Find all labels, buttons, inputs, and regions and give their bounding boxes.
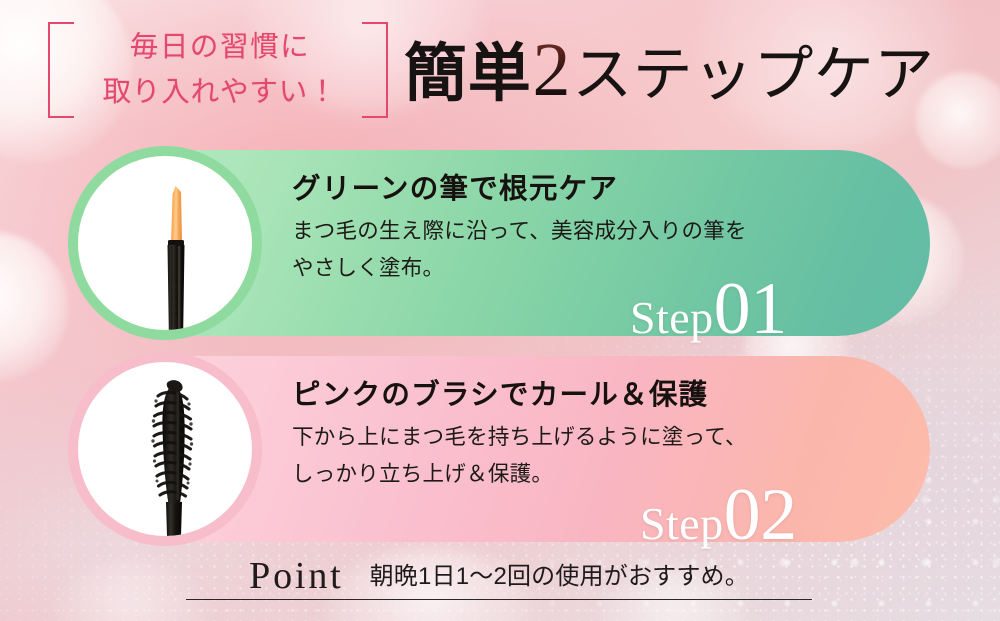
banner-header: 毎日の習慣に 取り入れやすい！ 簡単2ステップケア: [0, 0, 1000, 142]
step-02-number: 02: [724, 474, 797, 556]
step-02-icon-circle: [78, 362, 252, 536]
step-01-body-line-1: まつ毛の生え際に沿って、美容成分入りの筆を: [292, 215, 894, 247]
promo-banner: 毎日の習慣に 取り入れやすい！ 簡単2ステップケア グリーンの筆で根元ケア まつ…: [0, 0, 1000, 621]
step-01-icon-circle: [78, 156, 252, 330]
kicker-line-1: 毎日の習慣に: [72, 25, 368, 70]
step-01-text-block: グリーンの筆で根元ケア まつ毛の生え際に沿って、美容成分入りの筆を やさしく塗布…: [292, 170, 894, 284]
point-note: 朝晩1日1〜2回の使用がおすすめ。: [370, 560, 749, 596]
point-label: Point: [249, 556, 344, 596]
title-kanji: 簡単: [404, 39, 532, 109]
step-02-body-line-2: しっかり立ち上げ＆保護。: [292, 458, 894, 490]
step-02-heading: ピンクのブラシでカール＆保護: [292, 376, 894, 416]
pink-mascara-brush-icon: [78, 362, 252, 536]
title-katakana: ステップケア: [572, 42, 934, 108]
step-01-number: 01: [714, 268, 787, 350]
step-01-label: Step01: [630, 272, 787, 346]
bracket-left-icon: [48, 22, 74, 118]
step-01-word: Step: [630, 292, 714, 343]
page-title: 簡単2ステップケア: [404, 24, 934, 121]
step-02-label: Step02: [640, 478, 797, 552]
kicker-bracketed-label: 毎日の習慣に 取り入れやすい！: [48, 22, 388, 118]
step-01-body-line-2: やさしく塗布。: [292, 252, 894, 284]
step-02-word: Step: [640, 498, 724, 549]
step-01-heading: グリーンの筆で根元ケア: [292, 170, 894, 210]
kicker-line-2: 取り入れやすい！: [72, 70, 368, 115]
green-applicator-brush-icon: [78, 156, 252, 330]
kicker-text: 毎日の習慣に 取り入れやすい！: [72, 25, 368, 115]
title-number: 2: [532, 28, 573, 112]
step-02-text-block: ピンクのブラシでカール＆保護 下から上にまつ毛を持ち上げるように塗って、 しっか…: [292, 376, 894, 490]
point-footer: Point 朝晩1日1〜2回の使用がおすすめ。: [186, 546, 812, 600]
step-02-body-line-1: 下から上にまつ毛を持ち上げるように塗って、: [292, 421, 894, 453]
